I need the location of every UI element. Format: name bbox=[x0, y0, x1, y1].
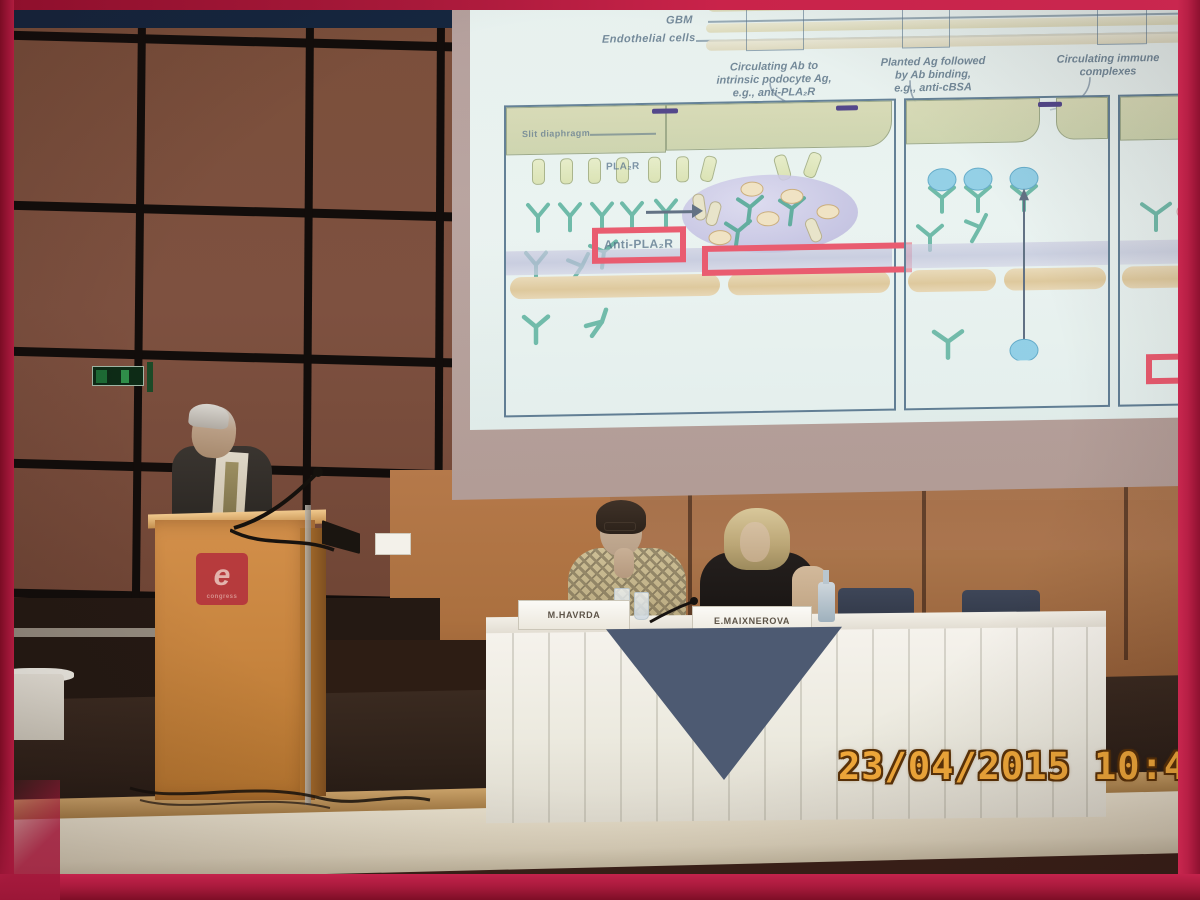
slide-label-podocyte: Podocyte bbox=[646, 0, 699, 9]
table-drape bbox=[606, 627, 842, 785]
name-placard-left: M.HAVRDA bbox=[518, 600, 630, 630]
podocyte-body-1b bbox=[666, 101, 892, 151]
presentation-slide: Podocyte GBM Endothelial cells Circulati… bbox=[470, 0, 1200, 430]
floor-cables bbox=[120, 770, 440, 820]
schematic-callout-3 bbox=[1097, 0, 1147, 45]
podocyte-body-3 bbox=[1120, 95, 1200, 141]
name-placard-right-text: E.MAIXNEROVA bbox=[714, 616, 790, 626]
endothelial-cell-panel-3 bbox=[1122, 265, 1200, 289]
highlight-box-gbm-wide bbox=[702, 242, 912, 276]
lectern-logo-subtext: congress bbox=[207, 594, 238, 600]
slide-label-anti-pla2r: Anti-PLA₂R bbox=[604, 236, 673, 251]
endothelial-cell-panel-1 bbox=[510, 274, 720, 300]
panelist-left-glasses bbox=[604, 522, 636, 531]
lectern-mic-cable bbox=[230, 520, 360, 560]
table-microphone bbox=[646, 596, 706, 628]
schematic-callout-1 bbox=[746, 0, 804, 51]
wall-light-panel bbox=[375, 533, 411, 555]
lectern-side-panel bbox=[300, 528, 326, 796]
gbm-band-panel-3 bbox=[1120, 239, 1200, 265]
schematic-callout-2 bbox=[902, 0, 950, 48]
wall-rail bbox=[10, 628, 160, 637]
water-bottle-neck bbox=[823, 570, 829, 584]
deposit-contents bbox=[682, 173, 858, 254]
emergency-exit-sign bbox=[92, 366, 144, 386]
slit-diaphragm-mark-3 bbox=[1038, 102, 1062, 107]
slide-label-slit-diaphragm: Slit diaphragm bbox=[522, 128, 590, 139]
highlight-box-panel-3 bbox=[1146, 353, 1200, 385]
frame-border-bottom bbox=[0, 874, 1200, 900]
camera-timestamp: 23/04/2015 10:41 bbox=[838, 745, 1200, 788]
water-bottle bbox=[818, 582, 835, 622]
free-antibodies-panel-1 bbox=[510, 306, 710, 369]
exit-sign-edge bbox=[147, 362, 153, 392]
planted-ag-arrow bbox=[904, 173, 1110, 363]
side-table bbox=[8, 674, 64, 740]
panelist-right-face bbox=[740, 522, 770, 562]
slit-diaphragm-mark-1 bbox=[652, 108, 678, 113]
lectern-logo: e congress bbox=[196, 553, 248, 605]
lectern-logo-letter: e bbox=[214, 561, 231, 591]
podocyte-body-2a bbox=[906, 98, 1040, 144]
slide-label-pla2r: PLA₂R bbox=[606, 161, 640, 173]
name-placard-left-text: M.HAVRDA bbox=[548, 610, 601, 620]
podocyte-body-2b bbox=[1056, 97, 1108, 140]
transition-arrow-head bbox=[692, 204, 703, 218]
slide-label-endothelial: Endothelial cells bbox=[602, 32, 696, 46]
panelist-left-hand bbox=[614, 548, 634, 578]
conference-photograph: Podocyte GBM Endothelial cells Circulati… bbox=[0, 0, 1200, 900]
slide-label-gbm: GBM bbox=[666, 14, 693, 26]
slit-diaphragm-mark-2 bbox=[836, 105, 858, 110]
